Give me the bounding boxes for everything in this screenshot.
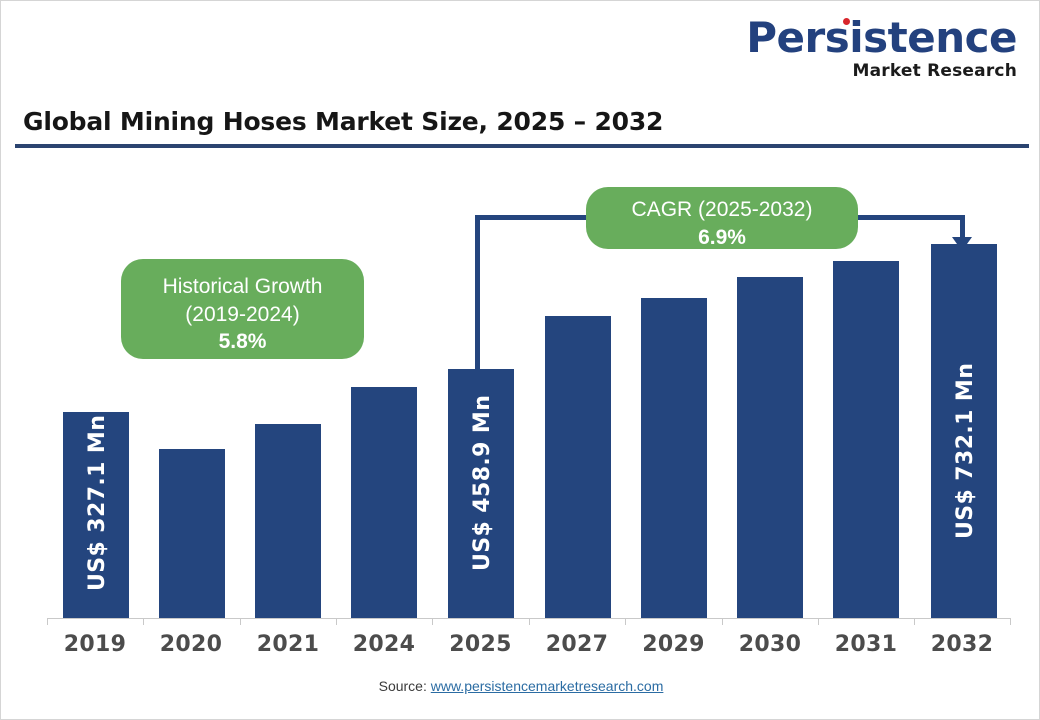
bar-2027 xyxy=(545,316,611,618)
chart-page: Persistence Market Research Global Minin… xyxy=(0,0,1040,720)
bar-value-label-2019: US$ 327.1 Mn xyxy=(85,415,110,591)
historical-growth-title: Historical Growth xyxy=(137,273,348,301)
x-axis-label-2024: 2024 xyxy=(336,632,432,657)
x-axis-label-2025: 2025 xyxy=(432,632,529,657)
cagr-value: 6.9% xyxy=(602,224,842,252)
bar-2024 xyxy=(351,387,417,618)
historical-growth-value: 5.8% xyxy=(137,328,348,356)
source-link[interactable]: www.persistencemarketresearch.com xyxy=(431,678,664,694)
x-axis-label-2030: 2030 xyxy=(722,632,818,657)
x-axis-tick xyxy=(143,618,144,625)
cagr-callout: CAGR (2025-2032) 6.9% xyxy=(586,187,858,249)
x-axis-label-2020: 2020 xyxy=(143,632,239,657)
x-axis-tick xyxy=(432,618,433,625)
cagr-title: CAGR (2025-2032) xyxy=(602,196,842,224)
historical-growth-callout: Historical Growth (2019-2024) 5.8% xyxy=(121,259,364,359)
x-axis-tick xyxy=(914,618,915,625)
cagr-connector-left-segment xyxy=(475,215,480,373)
x-axis-tick xyxy=(529,618,530,625)
bar-value-label-2025: US$ 458.9 Mn xyxy=(470,395,495,571)
historical-growth-period: (2019-2024) xyxy=(137,301,348,329)
bar-chart-plot-area: US$ 327.1 Mn US$ 458.9 Mn US$ 732.1 Mn 2… xyxy=(1,1,1040,720)
x-axis-tick xyxy=(240,618,241,625)
bar-2029 xyxy=(641,298,707,618)
bar-2020 xyxy=(159,449,225,618)
x-axis-tick xyxy=(818,618,819,625)
x-axis-label-2027: 2027 xyxy=(529,632,625,657)
x-axis-label-2029: 2029 xyxy=(625,632,722,657)
bar-2031 xyxy=(833,261,899,618)
x-axis-tick xyxy=(722,618,723,625)
x-axis-tick xyxy=(625,618,626,625)
x-axis-label-2019: 2019 xyxy=(47,632,143,657)
bar-value-label-2032: US$ 732.1 Mn xyxy=(953,363,978,539)
x-axis-label-2031: 2031 xyxy=(818,632,914,657)
source-label: Source: xyxy=(379,678,431,694)
source-line: Source: www.persistencemarketresearch.co… xyxy=(1,678,1040,694)
bar-2030 xyxy=(737,277,803,618)
bar-2021 xyxy=(255,424,321,618)
x-axis-label-2032: 2032 xyxy=(914,632,1010,657)
x-axis-tick xyxy=(336,618,337,625)
x-axis-tick xyxy=(47,618,48,625)
x-axis-tick xyxy=(1010,618,1011,625)
x-axis-label-2021: 2021 xyxy=(240,632,336,657)
